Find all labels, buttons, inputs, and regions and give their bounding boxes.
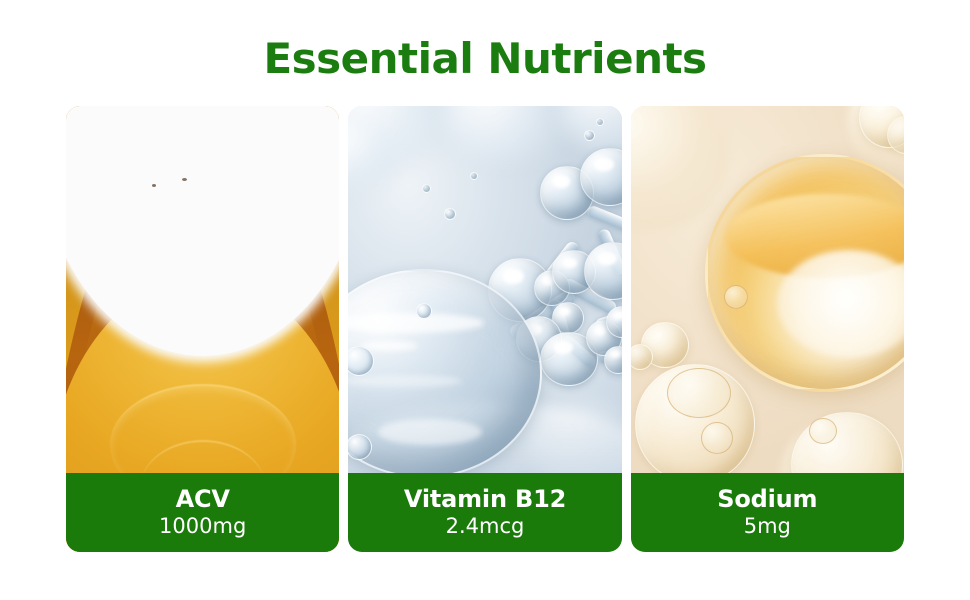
nutrient-card-row: ACV 1000mg (66, 106, 904, 552)
nutrient-card-acv[interactable]: ACV 1000mg (66, 106, 339, 552)
acv-speck (182, 178, 187, 181)
nutrient-card-sodium[interactable]: Sodium 5mg (631, 106, 904, 552)
vitamin-b12-dose: 2.4mcg (446, 515, 525, 539)
sodium-name: Sodium (717, 487, 817, 513)
b12-bubble-streak (348, 313, 484, 333)
page-title: Essential Nutrients (0, 34, 970, 83)
nutrient-card-vitamin-b12[interactable]: Vitamin B12 2.4mcg (348, 106, 621, 552)
acv-dose: 1000mg (159, 515, 246, 539)
vitamin-b12-label-plate: Vitamin B12 2.4mcg (348, 473, 621, 552)
vitamin-b12-name: Vitamin B12 (404, 487, 566, 513)
b12-bubble-streak (348, 375, 462, 387)
acv-label-plate: ACV 1000mg (66, 473, 339, 552)
sodium-inner-droplet (724, 285, 748, 309)
sodium-bubble-outline (809, 418, 837, 444)
sodium-dose: 5mg (744, 515, 791, 539)
acv-speck (152, 184, 156, 187)
acv-name: ACV (176, 487, 230, 513)
sodium-bubble-outline (701, 422, 733, 454)
b12-bubble-streak (378, 419, 482, 445)
sodium-label-plate: Sodium 5mg (631, 473, 904, 552)
sodium-bubble-core-highlight (777, 250, 904, 357)
essential-nutrients-banner: Essential Nutrients ACV 1000mg (0, 0, 970, 600)
sodium-bubble-outline (667, 368, 731, 418)
